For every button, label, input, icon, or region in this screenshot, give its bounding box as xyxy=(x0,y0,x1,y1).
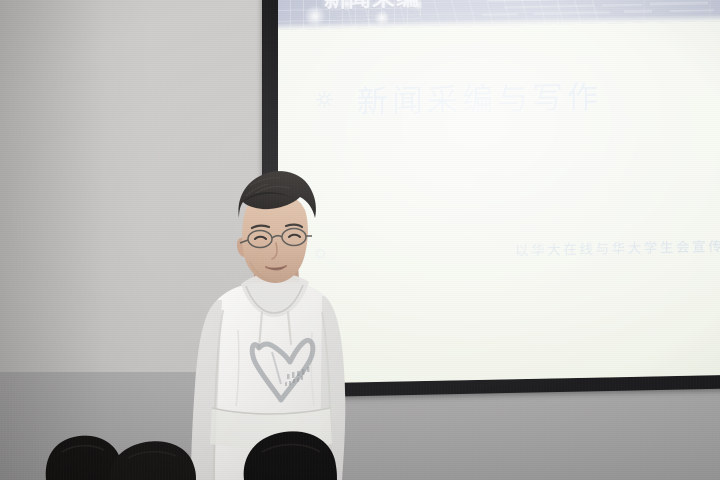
audience-row xyxy=(0,0,720,480)
presentation-photo-scene: 新闻采编 新闻 xyxy=(0,0,720,480)
audience-head-center xyxy=(244,431,337,480)
audience-head-mid-left xyxy=(110,441,196,480)
